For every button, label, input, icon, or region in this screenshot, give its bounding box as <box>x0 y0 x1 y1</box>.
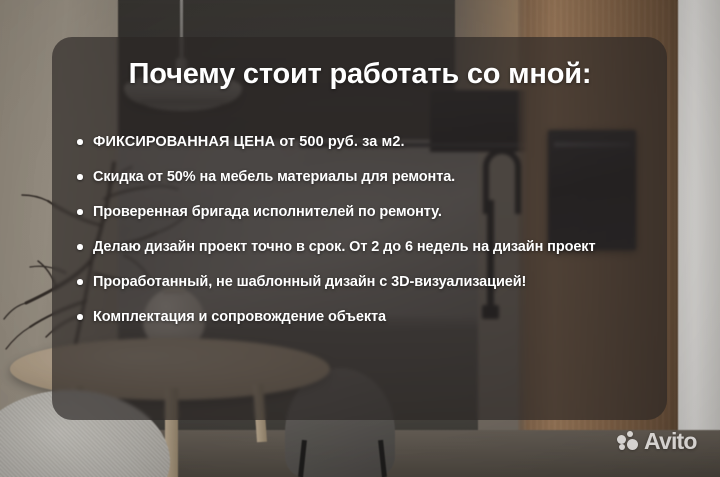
promo-banner: Почему стоит работать со мной: ФИКСИРОВА… <box>0 0 720 477</box>
avito-watermark: Avito <box>617 430 697 453</box>
text-overlay-panel <box>52 37 667 420</box>
avito-wordmark: Avito <box>644 430 697 453</box>
avito-dots-icon <box>617 431 640 452</box>
right-wall-panel <box>678 0 720 477</box>
